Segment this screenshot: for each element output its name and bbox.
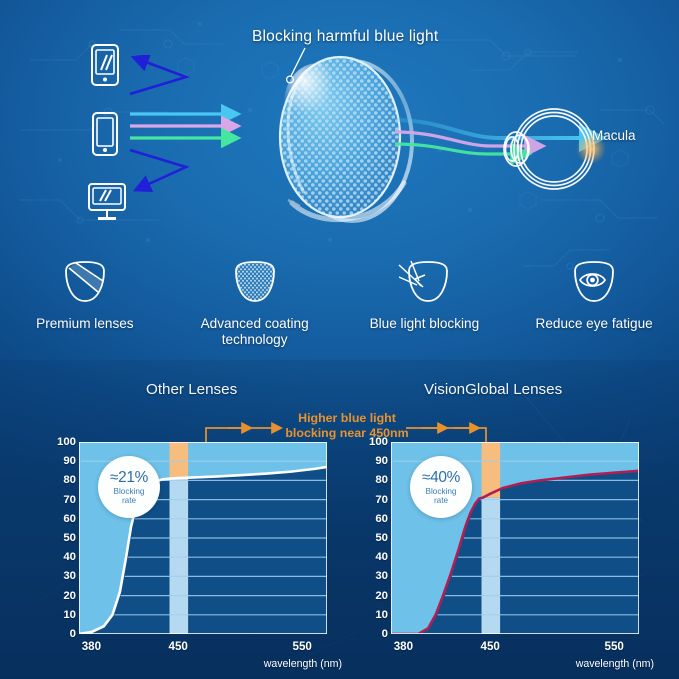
annotation-line1: Higher blue light	[283, 411, 411, 426]
y-tick-label: 30	[46, 570, 76, 582]
feature-label: Reduce eye fatigue	[509, 316, 679, 332]
x-tick-label: 450	[481, 640, 500, 653]
y-axis-tick-labels: 0102030405060708090100	[358, 440, 388, 636]
lens-shine-icon	[0, 256, 170, 308]
y-tick-label: 10	[46, 609, 76, 621]
y-tick-label: 0	[358, 628, 388, 640]
blocking-rate-caption: Blocking rate	[114, 488, 145, 506]
caption-line2: rate	[114, 497, 145, 506]
y-tick-label: 90	[46, 455, 76, 467]
blocking-rate-badge-left: ≈21% Blocking rate	[98, 456, 160, 518]
chart-title-left: Other Lenses	[146, 381, 237, 398]
y-tick-label: 10	[358, 609, 388, 621]
y-tick-label: 50	[358, 532, 388, 544]
eye-cross-section-icon	[488, 95, 658, 205]
y-tick-label: 100	[358, 436, 388, 448]
coating-mesh-icon	[170, 256, 340, 308]
y-tick-label: 80	[358, 474, 388, 486]
macula-label: Macula	[592, 128, 636, 143]
y-tick-label: 50	[46, 532, 76, 544]
feature-advanced-coating: Advanced coating technology	[170, 256, 340, 356]
tablet-icon	[85, 110, 131, 158]
feature-row: Premium lenses	[0, 256, 679, 356]
reflected-ray-upper-path	[130, 59, 186, 94]
y-tick-label: 20	[46, 590, 76, 602]
chart-other-lenses: 0102030405060708090100 ≈2	[46, 440, 346, 679]
x-axis-tick-labels: 380450550	[79, 640, 327, 656]
feature-label: Advanced coating technology	[170, 316, 340, 348]
feature-label: Blue light blocking	[340, 316, 510, 332]
y-tick-label: 20	[358, 590, 388, 602]
y-tick-label: 80	[46, 474, 76, 486]
callout-label: Blocking harmful blue light	[252, 28, 438, 46]
blocking-rate-badge-right: ≈40% Blocking rate	[410, 456, 472, 518]
x-axis-title: wavelength (nm)	[576, 658, 654, 670]
caption-line2: rate	[426, 497, 457, 506]
y-tick-label: 60	[358, 513, 388, 525]
x-tick-label: 450	[169, 640, 188, 653]
hero-diagram: Blocking harmful blue light Macula	[0, 0, 679, 250]
x-axis-tick-labels: 380450550	[391, 640, 639, 656]
feature-reduce-eye-fatigue: Reduce eye fatigue	[509, 256, 679, 356]
feature-label: Premium lenses	[0, 316, 170, 332]
smartphone-icon	[85, 42, 131, 88]
y-tick-label: 40	[358, 551, 388, 563]
blue-light-block-icon	[340, 256, 510, 308]
x-tick-label: 550	[605, 640, 624, 653]
blocking-rate-value: ≈40%	[422, 469, 460, 487]
x-tick-label: 380	[82, 640, 101, 653]
y-tick-label: 70	[46, 494, 76, 506]
y-tick-label: 70	[358, 494, 388, 506]
x-tick-label: 380	[394, 640, 413, 653]
y-tick-label: 30	[358, 570, 388, 582]
blocking-rate-value: ≈21%	[110, 469, 148, 487]
y-tick-label: 0	[46, 628, 76, 640]
feature-blue-light-blocking: Blue light blocking	[340, 256, 510, 356]
y-tick-label: 60	[46, 513, 76, 525]
chart-title-right: VisionGlobal Lenses	[424, 381, 562, 398]
highlight-band-lower	[482, 498, 501, 634]
feature-premium-lenses: Premium lenses	[0, 256, 170, 356]
reflected-ray-lower	[130, 150, 186, 188]
eye-icon	[509, 256, 679, 308]
x-tick-label: 550	[293, 640, 312, 653]
y-tick-label: 100	[46, 436, 76, 448]
annotation-line2: blocking near 450nm	[283, 426, 411, 441]
blocking-rate-caption: Blocking rate	[426, 488, 457, 506]
annotation-text: Higher blue light blocking near 450nm	[283, 411, 411, 441]
y-axis-tick-labels: 0102030405060708090100	[46, 440, 76, 636]
highlight-band-upper	[170, 442, 189, 478]
highlight-band-lower	[170, 478, 189, 634]
y-tick-label: 90	[358, 455, 388, 467]
x-axis-title: wavelength (nm)	[264, 658, 342, 670]
infographic-page: Blocking harmful blue light Macula Premi…	[0, 0, 679, 679]
chart-visionglobal-lenses: 0102030405060708090100 ≈40% Blocking rat…	[358, 440, 658, 679]
monitor-icon	[85, 180, 131, 224]
y-tick-label: 40	[46, 551, 76, 563]
callout-leader-line	[283, 46, 307, 88]
